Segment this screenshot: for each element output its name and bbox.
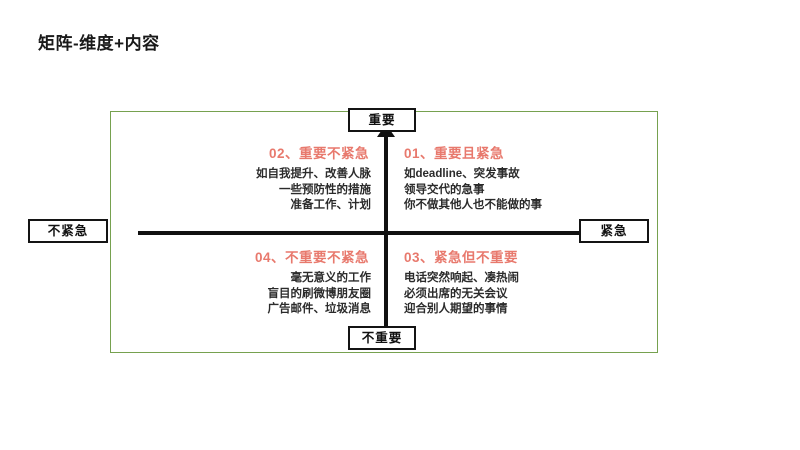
quadrant-02-lines: 如自我提升、改善人脉 一些预防性的措施 准备工作、计划 [131, 167, 371, 214]
quadrant-03-lines: 电话突然响起、凑热闹 必须出席的无关会议 迎合别人期望的事情 [404, 271, 644, 318]
horizontal-axis-line [138, 231, 606, 235]
quadrant-02-line-2: 一些预防性的措施 [131, 183, 371, 199]
axis-label-right: 紧急 [579, 219, 649, 243]
quadrant-02-line-1: 如自我提升、改善人脉 [131, 167, 371, 183]
quadrant-03-heading: 03、紧急但不重要 [404, 246, 644, 266]
quadrant-03-line-3: 迎合别人期望的事情 [404, 302, 644, 318]
matrix-diagram-frame: 重要 不重要 不紧急 紧急 02、重要不紧急 如自我提升、改善人脉 一些预防性的… [110, 111, 658, 353]
quadrant-04-line-2: 盲目的刷微博朋友圈 [131, 287, 371, 303]
axis-label-top: 重要 [348, 108, 416, 132]
quadrant-01: 01、重要且紧急 如deadline、突发事故 领导交代的急事 你不做其他人也不… [404, 142, 644, 214]
quadrant-04-heading: 04、不重要不紧急 [131, 246, 371, 266]
quadrant-02-heading: 02、重要不紧急 [131, 142, 371, 162]
quadrant-03: 03、紧急但不重要 电话突然响起、凑热闹 必须出席的无关会议 迎合别人期望的事情 [404, 246, 644, 318]
quadrant-03-line-1: 电话突然响起、凑热闹 [404, 271, 644, 287]
quadrant-01-line-2: 领导交代的急事 [404, 183, 644, 199]
quadrant-01-line-1: 如deadline、突发事故 [404, 167, 644, 183]
slide-canvas: 矩阵-维度+内容 重要 不重要 不紧急 紧急 02、重要不紧急 如自我提升、改善… [0, 0, 800, 450]
quadrant-04-lines: 毫无意义的工作 盲目的刷微博朋友圈 广告邮件、垃圾消息 [131, 271, 371, 318]
quadrant-02: 02、重要不紧急 如自我提升、改善人脉 一些预防性的措施 准备工作、计划 [131, 142, 371, 214]
axis-label-bottom: 不重要 [348, 326, 416, 350]
quadrant-03-line-2: 必须出席的无关会议 [404, 287, 644, 303]
quadrant-01-lines: 如deadline、突发事故 领导交代的急事 你不做其他人也不能做的事 [404, 167, 644, 214]
quadrant-01-line-3: 你不做其他人也不能做的事 [404, 198, 644, 214]
quadrant-02-line-3: 准备工作、计划 [131, 198, 371, 214]
quadrant-04-line-1: 毫无意义的工作 [131, 271, 371, 287]
page-title: 矩阵-维度+内容 [38, 29, 160, 54]
quadrant-04-line-3: 广告邮件、垃圾消息 [131, 302, 371, 318]
axis-label-left: 不紧急 [28, 219, 108, 243]
quadrant-01-heading: 01、重要且紧急 [404, 142, 644, 162]
quadrant-04: 04、不重要不紧急 毫无意义的工作 盲目的刷微博朋友圈 广告邮件、垃圾消息 [131, 246, 371, 318]
